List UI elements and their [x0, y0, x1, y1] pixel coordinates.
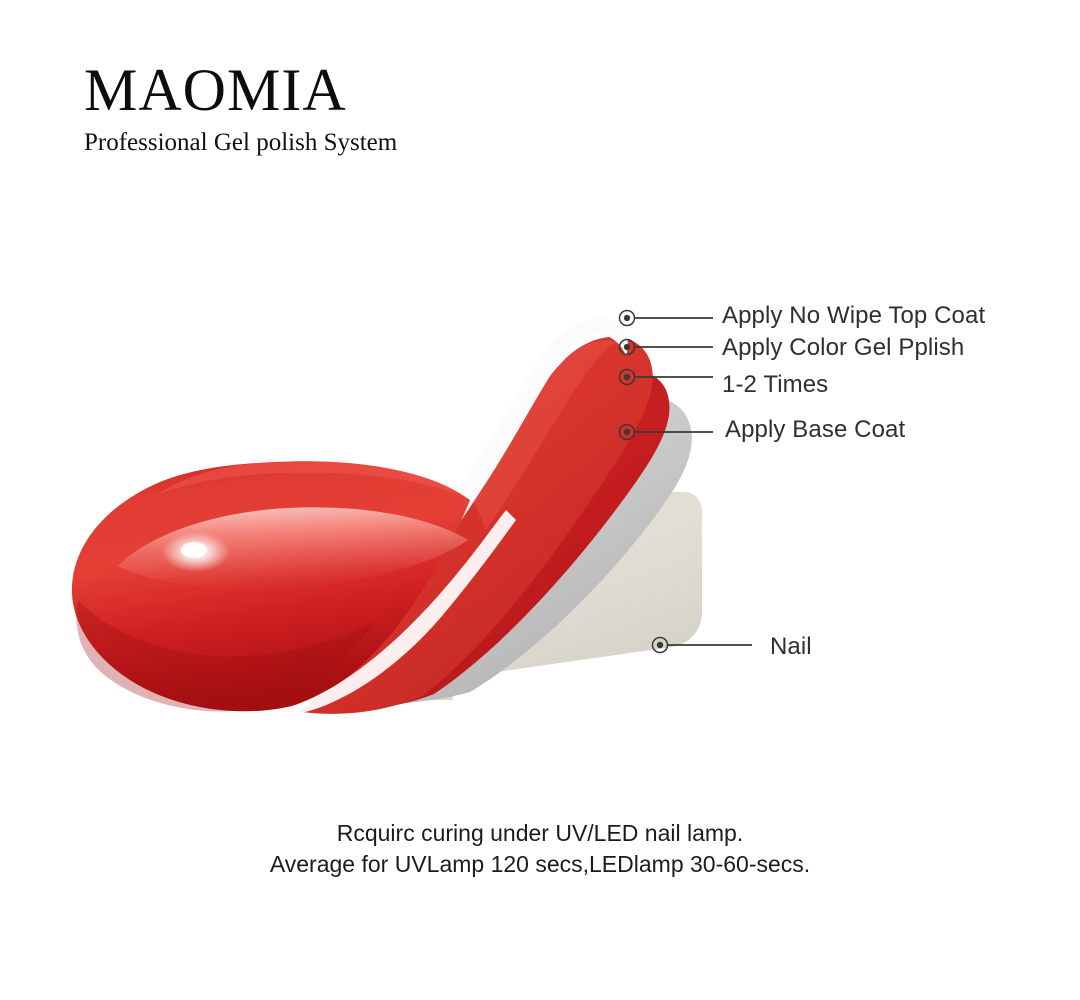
- layer-color-gel-inner: [289, 369, 669, 710]
- callout-marker-times[interactable]: [620, 370, 714, 385]
- callout-marker-color-gel[interactable]: [620, 340, 714, 355]
- layer-separation-sliver: [292, 510, 516, 714]
- callout-marker-top-coat[interactable]: [620, 311, 714, 326]
- callout-label-base-coat: Apply Base Coat: [725, 415, 905, 445]
- caption-block: Rcquirc curing under UV/LED nail lamp. A…: [0, 818, 1080, 880]
- layer-nail: [300, 492, 702, 700]
- callout-label-nail: Nail: [770, 632, 812, 662]
- layer-base-coat: [300, 397, 692, 705]
- brand-block: MAOMIA Professional Gel polish System: [84, 58, 544, 158]
- callout-marker-nail[interactable]: [653, 638, 753, 653]
- callout-marker-base-coat[interactable]: [620, 425, 714, 440]
- callout-label-top-coat: Apply No Wipe Top Coat: [722, 301, 985, 331]
- caption-line-1: Rcquirc curing under UV/LED nail lamp.: [0, 818, 1080, 849]
- brand-name: MAOMIA: [84, 58, 544, 122]
- diagram-page: MAOMIA Professional Gel polish System: [0, 0, 1080, 1000]
- caption-line-2: Average for UVLamp 120 secs,LEDlamp 30-6…: [0, 849, 1080, 880]
- brand-tagline: Professional Gel polish System: [84, 128, 544, 158]
- callout-label-times: 1-2 Times: [722, 370, 828, 400]
- layer-top-coat: [276, 318, 628, 712]
- callout-label-color-gel: Apply Color Gel Pplish: [722, 333, 964, 363]
- nail-body-red: [72, 461, 470, 711]
- layer-color-gel-outer: [282, 337, 653, 714]
